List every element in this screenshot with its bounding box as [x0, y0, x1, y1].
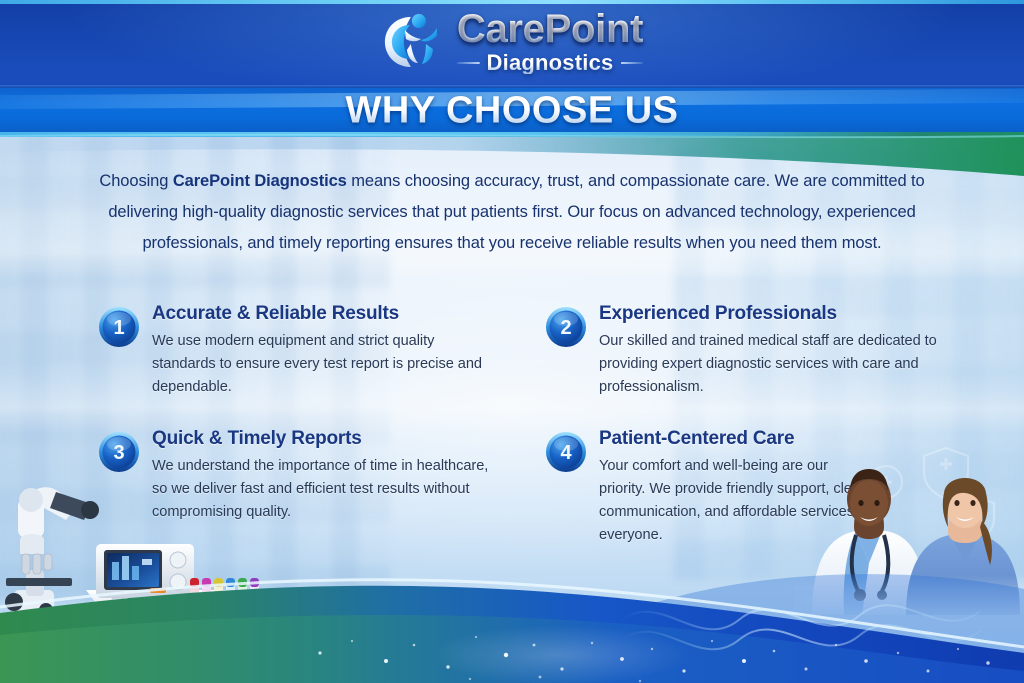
brand-logo: CarePoint Diagnostics	[381, 8, 643, 74]
intro-brand-emphasis: CarePoint Diagnostics	[173, 172, 347, 190]
svg-text:1: 1	[113, 317, 124, 339]
svg-text:3: 3	[113, 442, 124, 464]
feature-title: Experienced Professionals	[599, 302, 955, 326]
banner-top-accent-line	[0, 0, 1024, 4]
carepoint-human-figure-logo-icon	[381, 8, 445, 74]
svg-text:4: 4	[560, 442, 572, 464]
feature-title: Quick & Timely Reports	[152, 427, 498, 451]
logo-dash-right	[620, 62, 643, 64]
brand-name: CarePoint	[457, 9, 643, 49]
lab-equipment-photo	[0, 470, 300, 645]
header-bar: CarePoint Diagnostics	[0, 0, 1024, 88]
svg-text:2: 2	[560, 317, 571, 339]
feature-item-2: 2 Experienced Professionals Our skilled …	[545, 302, 955, 399]
number-badge-1-icon: 1	[98, 306, 140, 348]
banner-bottom-accent-line	[0, 132, 1024, 137]
feature-title: Accurate & Reliable Results	[152, 302, 498, 326]
number-badge-4-icon: 4	[545, 431, 587, 473]
poster-canvas: CarePoint Diagnostics WHY CHOOSE US	[0, 0, 1024, 683]
intro-text-pre: Choosing	[99, 172, 172, 190]
medical-professionals-photo	[794, 435, 1024, 615]
feature-item-1: 1 Accurate & Reliable Results We use mod…	[98, 302, 498, 399]
number-badge-2-icon: 2	[545, 306, 587, 348]
logo-dash-left	[457, 62, 480, 64]
feature-description: We use modern equipment and strict quali…	[152, 330, 498, 399]
title-banner: WHY CHOOSE US	[0, 88, 1024, 134]
page-title: WHY CHOOSE US	[0, 90, 1024, 133]
brand-subtitle: Diagnostics	[487, 52, 614, 74]
intro-paragraph: Choosing CarePoint Diagnostics means cho…	[80, 166, 944, 259]
feature-description: Our skilled and trained medical staff ar…	[599, 330, 955, 399]
number-badge-3-icon: 3	[98, 431, 140, 473]
